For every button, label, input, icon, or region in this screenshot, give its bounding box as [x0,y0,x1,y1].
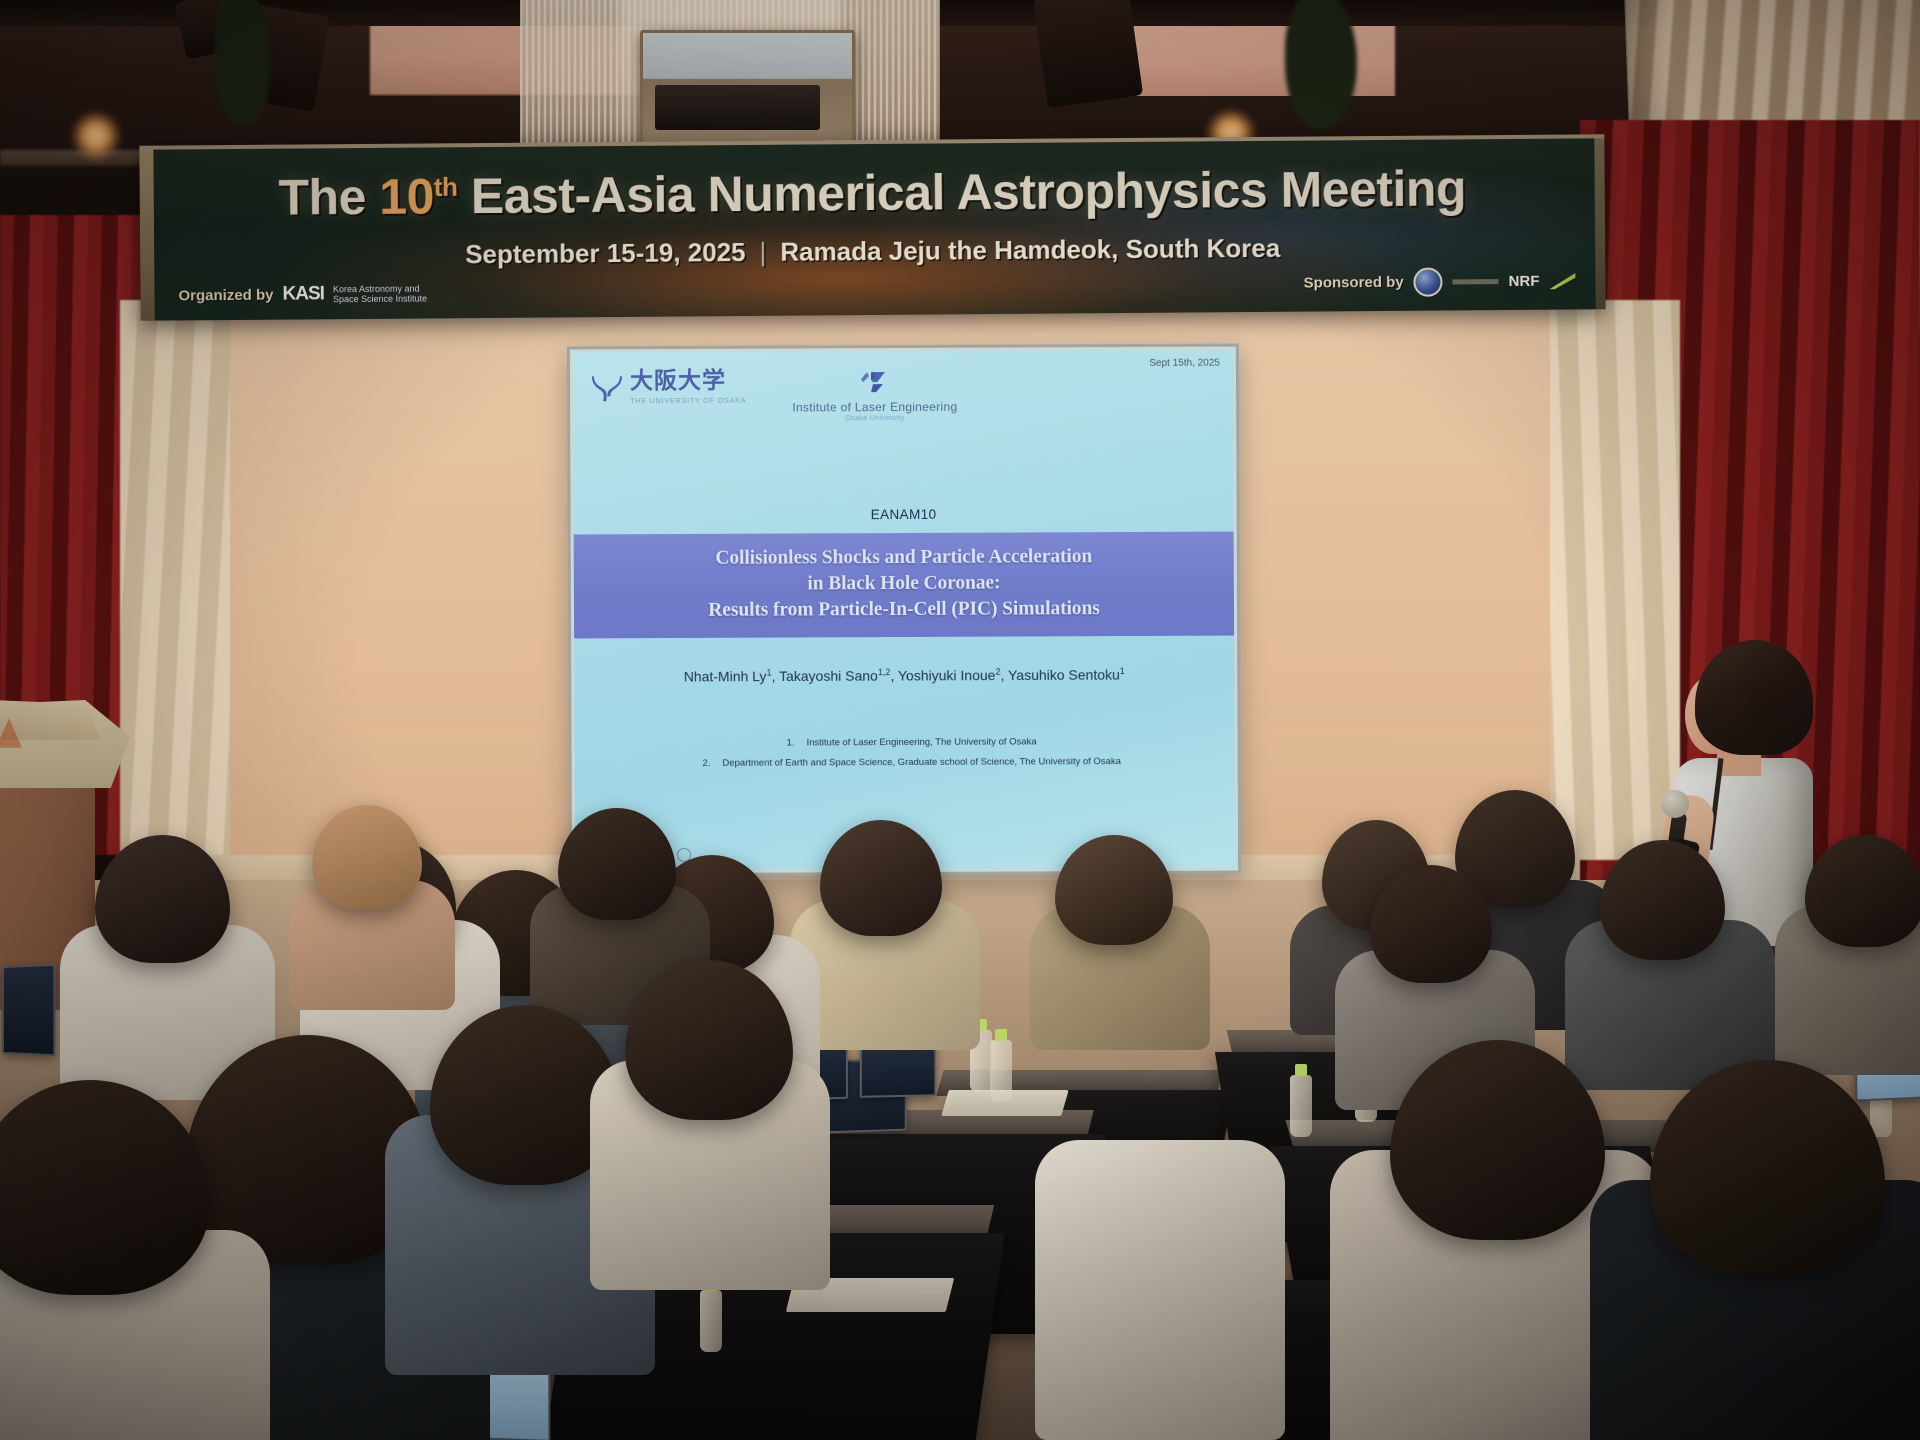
banner-title: The 10th East-Asia Numerical Astrophysic… [140,158,1605,228]
kasi-logo-mark: KASI [282,283,324,305]
audience-laptop [2,964,55,1057]
audience-member-body [1035,1140,1285,1440]
conference-banner: The 10th East-Asia Numerical Astrophysic… [139,134,1605,321]
water-bottle [1290,1075,1312,1137]
banner-title-rest: East-Asia Numerical Astrophysics Meeting [457,160,1466,224]
paper-sheet [941,1090,1068,1116]
kasi-logo-name: Korea Astronomy and Space Science Instit… [333,283,445,304]
affiliation-number: 2. [688,758,710,769]
projector-body [655,85,820,130]
light-glow [70,110,122,162]
stage-light-fixture [1033,0,1143,108]
ile-sub: Osaka University [845,415,904,422]
presentation-slide: Sept 15th, 2025 大阪大学 THE UNIVERSITY OF O… [573,350,1235,871]
banner-sponsor-block: Sponsored by NRF [1303,266,1575,297]
osaka-english: THE UNIVERSITY OF OSAKA [630,396,746,406]
banner-location: Ramada Jeju the Hamdeok, South Korea [780,233,1280,267]
slide-title-line-1: Collisionless Shocks and Particle Accele… [574,544,1234,573]
ile-logo: Institute of Laser Engineering Osaka Uni… [792,370,957,423]
nrf-logo-mark: NRF [1509,273,1540,290]
osaka-kanji: 大阪大学 [630,370,746,394]
hanging-plant [1285,0,1357,130]
presenter-hair [1695,640,1813,755]
nrf-logo-icon [1549,273,1575,289]
banner-organizer-block: Organized by KASI Korea Astronomy and Sp… [178,282,445,306]
projection-screen: Sept 15th, 2025 大阪大学 THE UNIVERSITY OF O… [567,344,1241,877]
banner-dates: September 15-19, 2025 [465,237,746,269]
ile-name: Institute of Laser Engineering [792,400,957,415]
banner-separator: | [745,237,780,267]
slide-conference-tag: EANAM10 [574,506,1234,524]
affiliation-text: Institute of Laser Engineering, The Univ… [807,736,1037,748]
slide-title-line-2: in Black Hole Coronae: [574,570,1234,599]
microphone-icon [1661,790,1689,818]
osaka-logo-text: 大阪大学 THE UNIVERSITY OF OSAKA [630,370,746,406]
slide-logo-row: 大阪大学 THE UNIVERSITY OF OSAKA Institute o… [591,368,1215,433]
slide-title-band: Collisionless Shocks and Particle Accele… [574,532,1234,639]
banner-subtitle: September 15-19, 2025|Ramada Jeju the Ha… [140,230,1605,273]
sponsor-seal-icon [1414,268,1443,297]
sponsored-by-label: Sponsored by [1304,274,1404,292]
water-bottle [700,1290,722,1352]
sponsor-logo-placeholder [1453,279,1499,284]
hanging-plant [215,0,271,125]
slide-title-line-3: Results from Particle-In-Cell (PIC) Simu… [574,596,1234,625]
slide-affiliation-1: 1.Institute of Laser Engineering, The Un… [575,736,1235,750]
osaka-university-logo: 大阪大学 THE UNIVERSITY OF OSAKA [591,370,746,406]
ile-laser-icon [857,370,893,398]
osaka-university-crest-icon [591,373,623,403]
banner-title-prefix: The [278,169,379,226]
slide-affiliation-2: 2.Department of Earth and Space Science,… [575,756,1235,770]
banner-title-ordinal: th [434,172,458,202]
affiliation-text: Department of Earth and Space Science, G… [722,756,1121,769]
banner-title-number: 10 [379,168,434,224]
slide-authors: Nhat-Minh Ly1, Takayoshi Sano1,2, Yoshiy… [574,666,1234,686]
conference-room-photo: The 10th East-Asia Numerical Astrophysic… [0,0,1920,1440]
organized-by-label: Organized by [178,286,273,304]
affiliation-number: 1. [773,737,795,748]
